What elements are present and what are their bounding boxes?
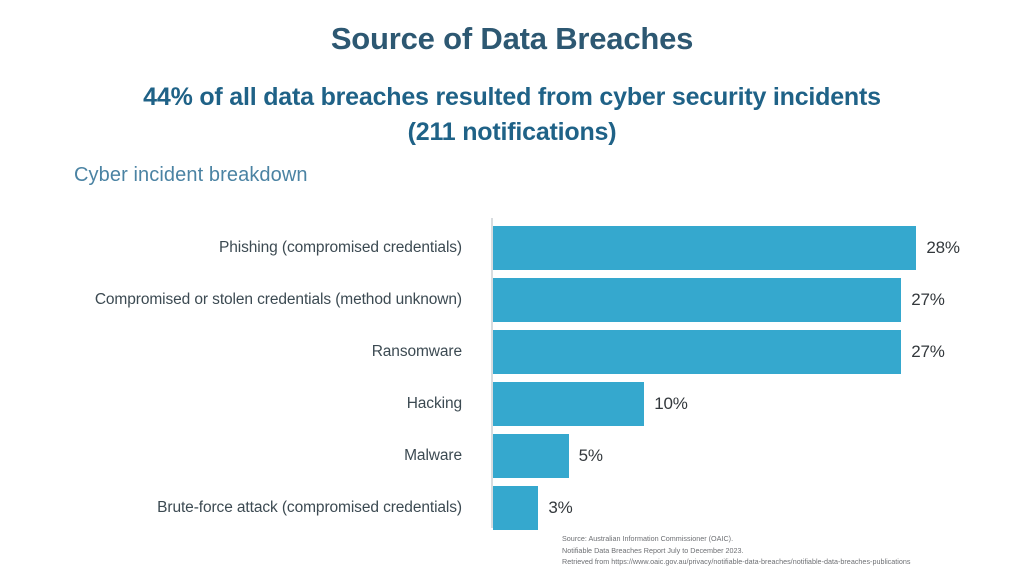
bar-value-label: 28% [926, 226, 959, 270]
bar-segment[interactable] [493, 278, 901, 322]
bar-row: Compromised or stolen credentials (metho… [0, 278, 1024, 330]
bar-segment[interactable] [493, 382, 644, 426]
chart-section-label: Cyber incident breakdown [74, 164, 308, 187]
slide-canvas: Source of Data Breaches 44% of all data … [0, 0, 1024, 576]
bar-category-label: Malware [404, 434, 462, 478]
page-subtitle: 44% of all data breaches resulted from c… [40, 80, 984, 149]
bar-segment[interactable] [493, 434, 569, 478]
bar-value-label: 27% [911, 330, 944, 374]
bar-value-label: 5% [579, 434, 603, 478]
source-line-2: Notifiable Data Breaches Report July to … [562, 545, 911, 557]
bar-value-label: 27% [911, 278, 944, 322]
bar-category-label: Ransomware [372, 330, 462, 374]
bar-category-label: Compromised or stolen credentials (metho… [95, 278, 462, 322]
bar-segment[interactable] [493, 330, 901, 374]
subtitle-line-2: (211 notifications) [408, 118, 617, 146]
subtitle-line-1: 44% of all data breaches resulted from c… [143, 83, 881, 111]
bar-row: Ransomware27% [0, 330, 1024, 382]
bar-row: Malware5% [0, 434, 1024, 486]
source-line-1: Source: Australian Information Commissio… [562, 533, 911, 545]
source-citation: Source: Australian Information Commissio… [562, 533, 911, 568]
bar-row: Phishing (compromised credentials)28% [0, 226, 1024, 278]
bar-segment[interactable] [493, 226, 916, 270]
bar-row: Hacking10% [0, 382, 1024, 434]
bar-category-label: Brute-force attack (compromised credenti… [157, 486, 462, 530]
source-line-3: Retrieved from https://www.oaic.gov.au/p… [562, 556, 911, 568]
bar-chart: Phishing (compromised credentials)28%Com… [0, 218, 1024, 530]
bar-segment[interactable] [493, 486, 538, 530]
bar-value-label: 10% [654, 382, 687, 426]
bar-category-label: Phishing (compromised credentials) [219, 226, 462, 270]
page-title: Source of Data Breaches [0, 22, 1024, 56]
bar-category-label: Hacking [407, 382, 462, 426]
bar-row: Brute-force attack (compromised credenti… [0, 486, 1024, 538]
bar-value-label: 3% [548, 486, 572, 530]
